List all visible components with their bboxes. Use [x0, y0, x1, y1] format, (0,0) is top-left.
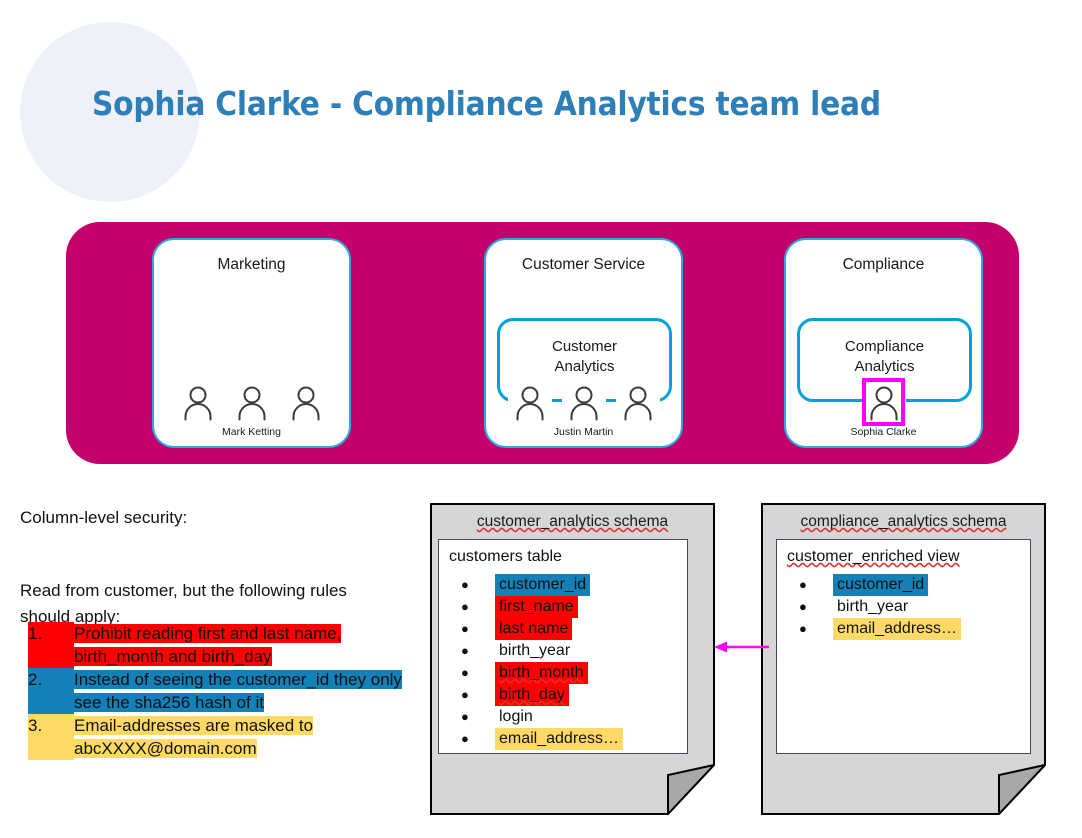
bullet-icon: ●	[461, 728, 495, 750]
schema-title-text: compliance_analytics schema	[801, 513, 1007, 530]
list-item: ● birth_year	[461, 640, 683, 662]
column-name: last name	[495, 618, 572, 640]
schema-title: customer_analytics schema	[430, 513, 715, 531]
list-item: ● birth_year	[799, 596, 1026, 618]
list-item: ● login	[461, 706, 683, 728]
department-person-name: Sophia Clarke	[786, 426, 981, 438]
department-title: Marketing	[154, 256, 349, 274]
person-icon	[618, 382, 658, 422]
rule-number: 2.	[28, 668, 74, 714]
person-icon-row-compliance	[864, 382, 904, 422]
security-rules-list: 1. Prohibit reading first and last name,…	[28, 622, 428, 760]
column-list: ● customer_id ● birth_year ● email_addre…	[799, 574, 1026, 640]
schema-title: compliance_analytics schema	[761, 513, 1046, 531]
department-person-name: Justin Martin	[486, 426, 681, 438]
bullet-icon: ●	[461, 596, 495, 618]
page-title: Sophia Clarke - Compliance Analytics tea…	[92, 84, 992, 123]
rule-number: 1.	[28, 622, 74, 668]
analytics-box-label: Customer Analytics	[500, 337, 669, 377]
list-item: 1. Prohibit reading first and last name,…	[28, 622, 428, 668]
list-item: ● email_address…	[461, 728, 683, 750]
rule-number: 3.	[28, 714, 74, 760]
column-name: customer_id	[833, 574, 928, 596]
list-item: 3. Email-addresses are masked to abcXXXX…	[28, 714, 428, 760]
list-item: ● birth_month	[461, 662, 683, 684]
person-icon-row-customer-service	[510, 382, 658, 422]
bullet-icon: ●	[461, 640, 495, 662]
column-name: first_name	[495, 596, 578, 618]
analytics-label-line1: Compliance	[845, 338, 924, 355]
table-title: customers table	[449, 548, 562, 566]
list-item: ● first_name	[461, 596, 683, 618]
list-item: 2. Instead of seeing the customer_id the…	[28, 668, 428, 714]
column-name: customer_id	[495, 574, 590, 596]
rule-text: Email-addresses are masked to abcXXXX@do…	[74, 716, 313, 758]
person-icon	[178, 382, 218, 422]
analytics-label-line2: Analytics	[854, 358, 914, 375]
schema-document-compliance-analytics: compliance_analytics schema customer_enr…	[761, 503, 1046, 815]
column-name: birth_month	[495, 662, 588, 684]
rule-text: Prohibit reading first and last name, bi…	[74, 624, 341, 666]
department-title: Customer Service	[486, 256, 681, 274]
list-item: ● customer_id	[461, 574, 683, 596]
column-name: birth_day	[495, 684, 569, 706]
bullet-icon: ●	[799, 574, 833, 596]
column-name: birth_year	[833, 596, 912, 618]
column-list: ● customer_id ● first_name ● last name ●…	[461, 574, 683, 750]
bullet-icon: ●	[461, 706, 495, 728]
person-icon	[232, 382, 272, 422]
analytics-box-label: Compliance Analytics	[800, 337, 969, 377]
rule-text: Instead of seeing the customer_id they o…	[74, 670, 402, 712]
bullet-icon: ●	[461, 574, 495, 596]
analytics-label-line2: Analytics	[554, 358, 614, 375]
bullet-icon: ●	[461, 662, 495, 684]
column-name: birth_year	[495, 640, 574, 662]
person-icon	[286, 382, 326, 422]
bullet-icon: ●	[461, 618, 495, 640]
person-icon-row-marketing	[178, 382, 326, 422]
department-person-name: Mark Ketting	[154, 426, 349, 438]
list-item: ● birth_day	[461, 684, 683, 706]
list-item: ● last name	[461, 618, 683, 640]
person-icon	[510, 382, 550, 422]
department-title: Compliance	[786, 256, 981, 274]
schema-relationship-arrow	[712, 640, 770, 654]
column-name: email_address…	[495, 728, 623, 750]
list-item: ● customer_id	[799, 574, 1026, 596]
person-icon	[864, 382, 904, 422]
view-title: customer_enriched view	[787, 548, 960, 566]
schema-inner-box: customers table ● customer_id ● first_na…	[438, 539, 688, 754]
list-item: ● email_address…	[799, 618, 1026, 640]
bullet-icon: ●	[461, 684, 495, 706]
person-icon	[564, 382, 604, 422]
schema-document-customer-analytics: customer_analytics schema customers tabl…	[430, 503, 715, 815]
bullet-icon: ●	[799, 596, 833, 618]
bullet-icon: ●	[799, 618, 833, 640]
security-heading: Column-level security:	[20, 508, 187, 528]
analytics-label-line1: Customer	[552, 338, 617, 355]
column-name: email_address…	[833, 618, 961, 640]
schema-inner-box: customer_enriched view ● customer_id ● b…	[776, 539, 1031, 754]
schema-title-text: customer_analytics schema	[477, 513, 668, 530]
column-name: login	[495, 706, 537, 728]
